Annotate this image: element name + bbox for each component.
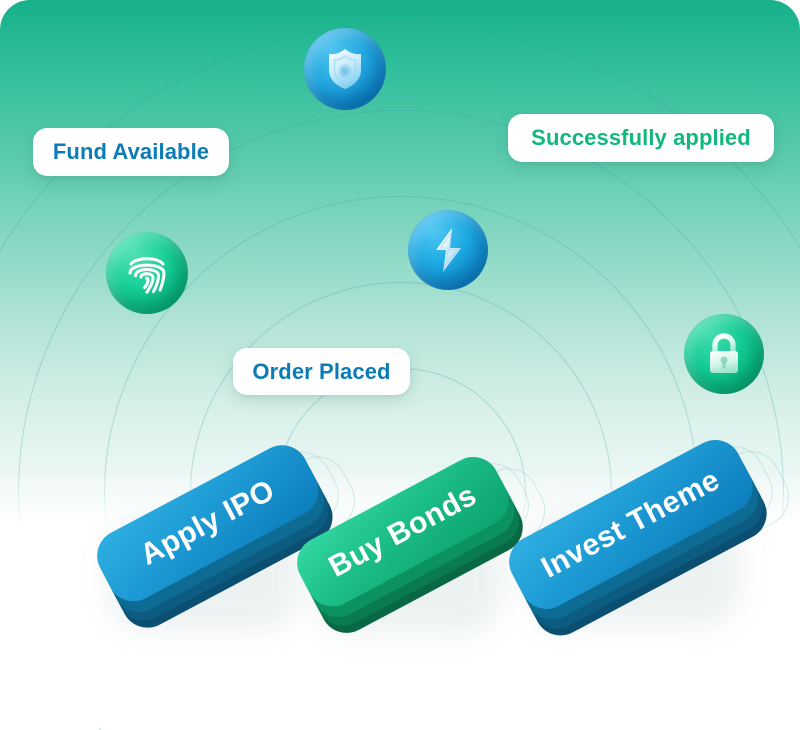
lightning-bolt-icon	[431, 227, 465, 273]
fingerprint-icon	[124, 249, 170, 297]
label-fund-available[interactable]: Fund Available	[33, 128, 229, 176]
label-fund-available-text: Fund Available	[53, 139, 209, 165]
badge-lock[interactable]	[684, 314, 764, 394]
lock-icon	[704, 332, 744, 376]
badge-shield[interactable]	[304, 28, 386, 110]
badge-lightning[interactable]	[408, 210, 488, 290]
label-order-placed[interactable]: Order Placed	[233, 348, 410, 395]
label-successfully-applied[interactable]: Successfully applied	[508, 114, 774, 162]
label-successfully-applied-text: Successfully applied	[531, 125, 751, 151]
illustration-stage: Apply IPO Buy Bonds Invest Theme	[0, 0, 800, 730]
badge-fingerprint[interactable]	[106, 232, 188, 314]
label-order-placed-text: Order Placed	[252, 359, 390, 385]
shield-icon	[325, 47, 365, 91]
